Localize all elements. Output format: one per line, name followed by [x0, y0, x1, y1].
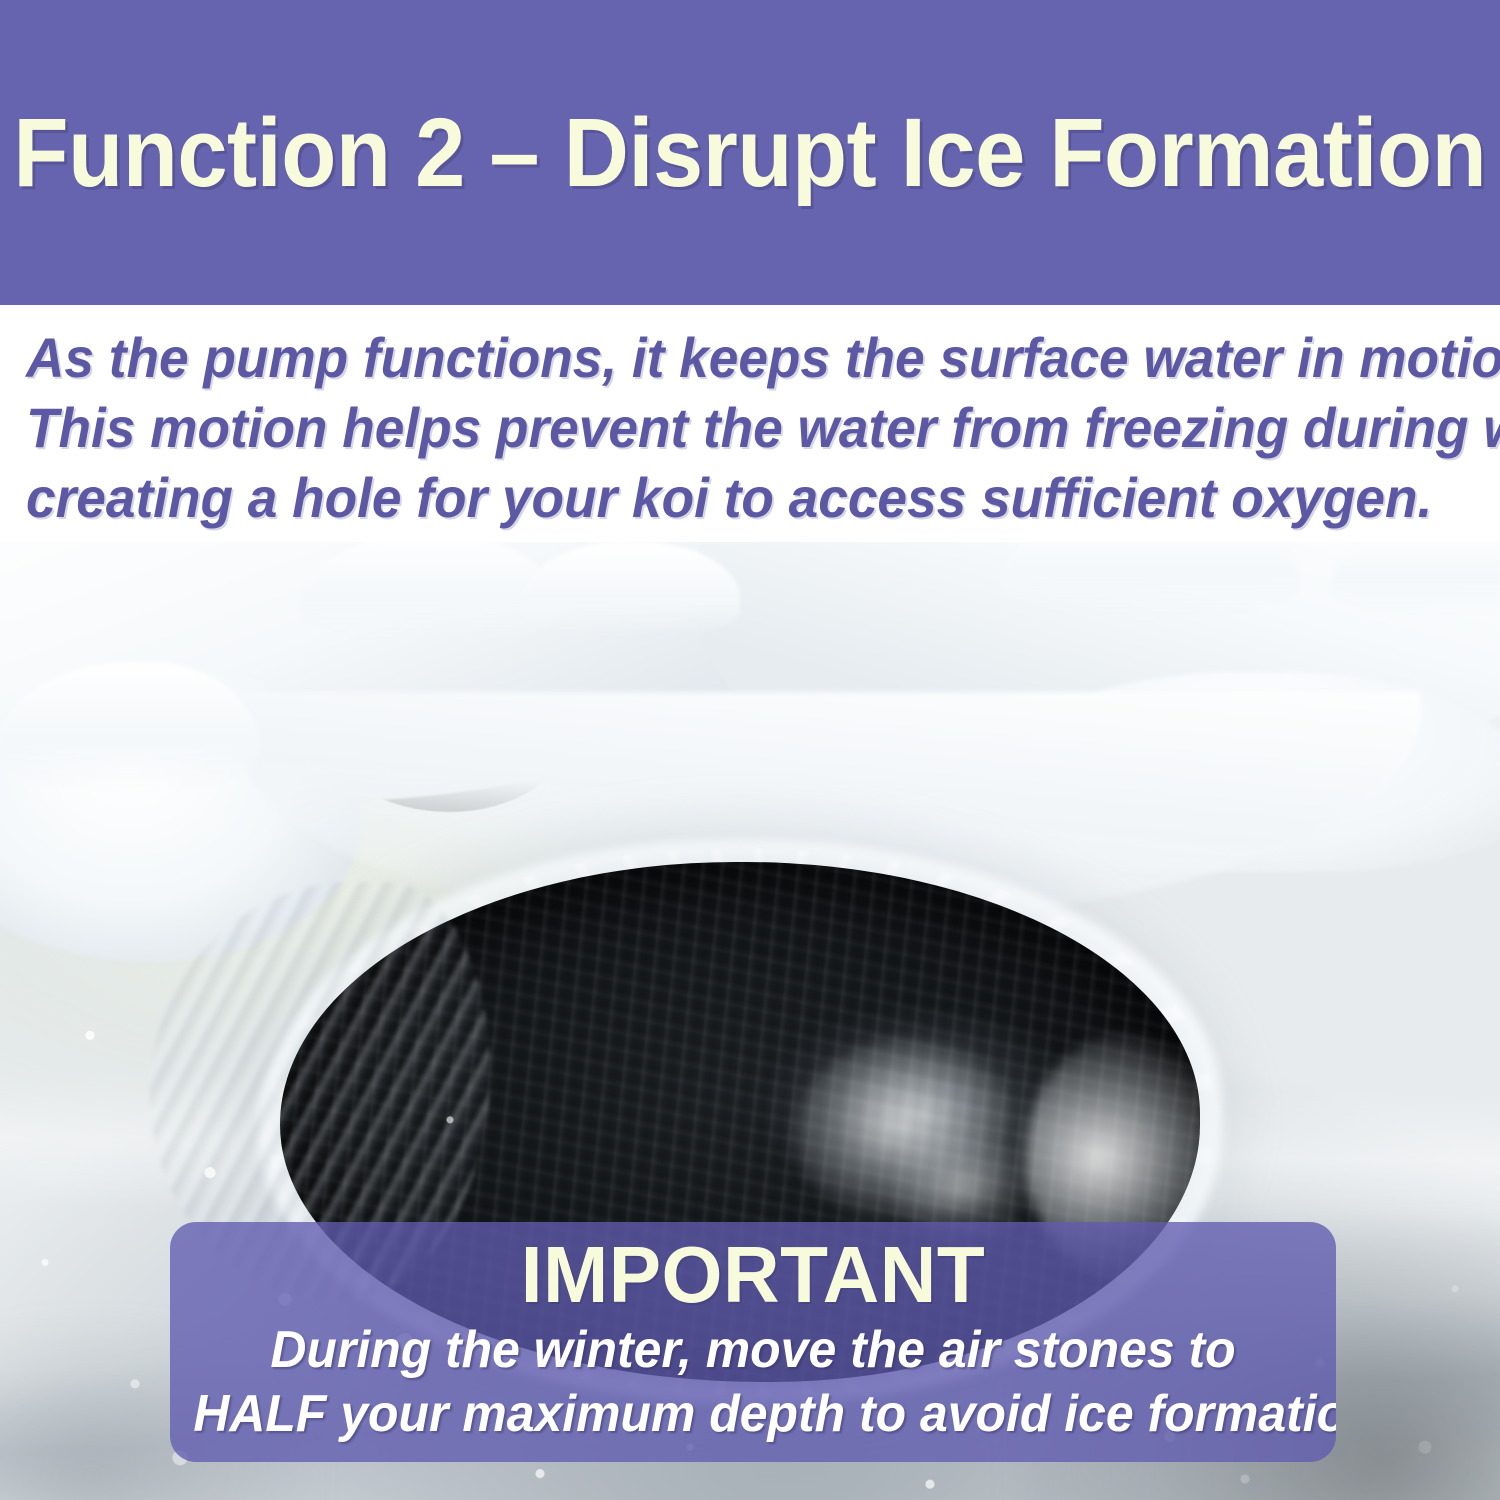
callout-line-1: During the winter, move the air stones t…	[193, 1318, 1312, 1382]
important-callout: IMPORTANT During the winter, move the ai…	[170, 1222, 1336, 1462]
snow-cap-3	[1000, 542, 1300, 617]
intro-text-block: As the pump functions, it keeps the surf…	[0, 305, 1500, 542]
callout-line-2: HALF your maximum depth to avoid ice for…	[193, 1382, 1312, 1446]
snow-cap-5	[1330, 542, 1500, 617]
snow-cap-1	[300, 542, 560, 642]
header-band: Function 2 – Disrupt Ice Formation	[0, 0, 1500, 305]
infographic-page: Function 2 – Disrupt Ice Formation As th…	[0, 0, 1500, 1500]
page-title: Function 2 – Disrupt Ice Formation	[14, 104, 1487, 201]
callout-title: IMPORTANT	[182, 1232, 1325, 1318]
intro-line-3: creating a hole for your koi to access s…	[26, 463, 1405, 533]
intro-line-2: This motion helps prevent the water from…	[26, 393, 1405, 463]
intro-line-1: As the pump functions, it keeps the surf…	[26, 323, 1405, 393]
